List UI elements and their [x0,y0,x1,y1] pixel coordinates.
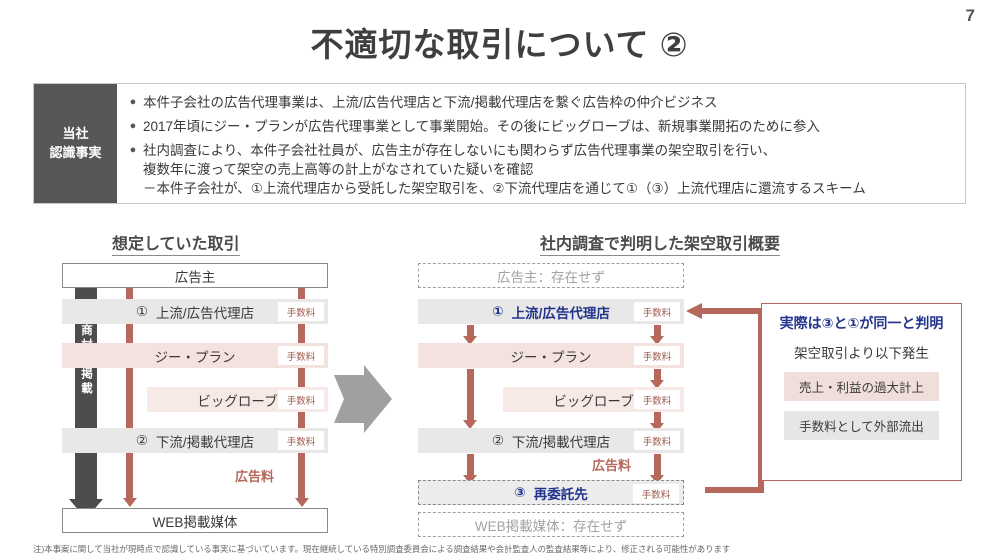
right-row-g-plan: ジー・プラン 手数料 [418,343,684,368]
right-row-upstream-agency: ① 上流/広告代理店 手数料 [418,299,684,324]
row-label: 再委託先 [534,483,588,503]
right-ad-fee-label: 広告料 [592,455,631,474]
row-number: ① [492,304,503,320]
row-label: 広告主：存在せず [497,266,605,286]
callout-item-external-outflow: 手数料として外部流出 [784,411,939,440]
right-row-web-media-nonexistent: WEB掲載媒体：存在せず [418,512,684,537]
callout-title: 実際は③と①が同一と判明 [762,313,961,333]
row-number: ③ [514,485,525,501]
arrow-upstream-to-gplan-left [463,325,478,345]
right-row-advertiser-nonexistent: 広告主：存在せず [418,263,684,288]
row-label: ジー・プラン [511,346,592,366]
slide-root: 7 不適切な取引について ② 当社 認識事実 ● 本件子会社の広告代理事業は、上… [0,0,999,560]
fee-badge: 手数料 [634,390,680,409]
row-label: 上流/広告代理店 [512,302,610,322]
row-label: WEB掲載媒体：存在せず [475,515,627,535]
row-label: 下流/掲載代理店 [512,431,610,451]
right-row-biglobe: ビッグローブ 手数料 [503,387,684,412]
fee-badge: 手数料 [633,484,679,503]
row-number: ② [492,433,504,449]
right-row-downstream-agency: ② 下流/掲載代理店 手数料 [418,428,684,453]
fee-badge: 手数料 [634,302,680,321]
callout-subtitle: 架空取引より以下発生 [762,342,961,362]
row-label: ビッグローブ [553,390,633,410]
arrow-gplan-to-downstream-left [463,369,478,429]
fee-badge: 手数料 [634,346,680,365]
fee-badge: 手数料 [634,431,680,450]
callout-item-overstated-revenue: 売上・利益の過大計上 [784,372,939,401]
footnote: 注)本事案に関して当社が現時点で認識している事実に基づいています。現在継続してい… [33,543,730,555]
callout-panel: 実際は③と①が同一と判明 架空取引より以下発生 売上・利益の過大計上 手数料とし… [761,303,962,481]
right-diagram: 広告主：存在せず ① 上流/広告代理店 手数料 ジー・プラン 手数料 ビッグロー… [0,0,760,560]
right-row-resubcontractor: ③ 再委託先 手数料 [418,480,684,505]
